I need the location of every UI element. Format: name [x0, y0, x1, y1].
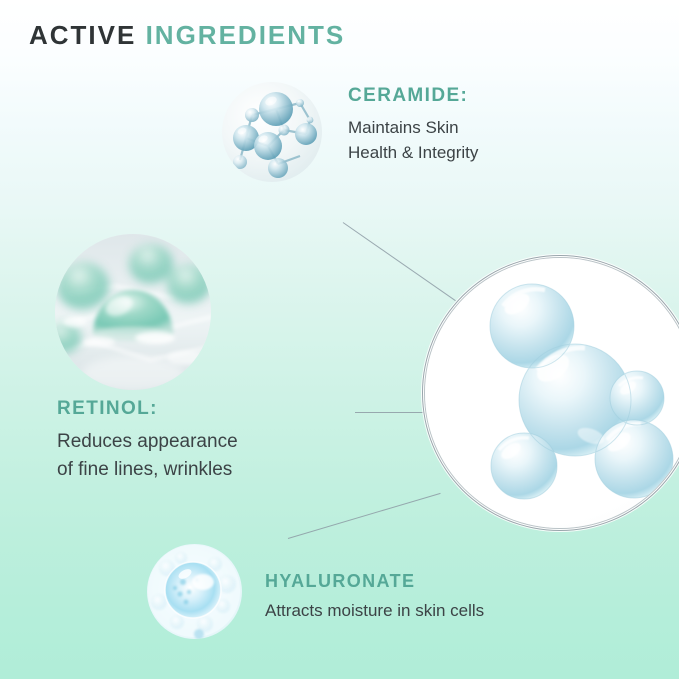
title-word-active: ACTIVE — [29, 20, 136, 50]
molecular-network-icon — [222, 82, 322, 182]
hero-molecule-circle — [425, 258, 679, 528]
green-dome-spheres-icon — [55, 234, 211, 390]
ingredient-desc-ceramide: Maintains Skin Health & Integrity — [348, 115, 478, 165]
title-word-ingredients: INGREDIENTS — [146, 20, 346, 50]
ingredient-desc-hyaluronate: Attracts moisture in skin cells — [265, 598, 484, 623]
ingredient-desc-retinol-line1: Reduces appearance — [57, 428, 238, 456]
page-title: ACTIVE INGREDIENTS — [29, 20, 345, 51]
ingredient-name-hyaluronate: HYALURONATE — [265, 571, 484, 592]
connector-line-retinol — [355, 412, 429, 413]
ingredient-text-retinol: RETINOL: Reduces appearance of fine line… — [57, 398, 238, 484]
ingredient-image-hyaluronate — [147, 544, 242, 639]
ingredient-name-retinol: RETINOL: — [57, 398, 238, 420]
ingredient-name-ceramide: CERAMIDE: — [348, 85, 478, 107]
ingredient-desc-ceramide-line2: Health & Integrity — [348, 140, 478, 165]
ingredient-desc-retinol-line2: of fine lines, wrinkles — [57, 456, 238, 484]
ingredient-desc-hyaluronate-line1: Attracts moisture in skin cells — [265, 598, 484, 623]
infographic-canvas: ACTIVE INGREDIENTS — [0, 0, 679, 679]
ingredient-desc-ceramide-line1: Maintains Skin — [348, 115, 478, 140]
ingredient-image-ceramide — [222, 82, 322, 182]
connector-line-hyaluronate — [288, 493, 441, 539]
connector-line-ceramide — [343, 222, 456, 301]
ingredient-text-ceramide: CERAMIDE: Maintains Skin Health & Integr… — [348, 85, 478, 165]
water-bubble-cluster-icon — [147, 544, 242, 639]
large-molecule-icon — [425, 258, 679, 528]
ingredient-text-hyaluronate: HYALURONATE Attracts moisture in skin ce… — [265, 571, 484, 623]
ingredient-image-retinol — [55, 234, 211, 390]
ingredient-desc-retinol: Reduces appearance of fine lines, wrinkl… — [57, 428, 238, 484]
